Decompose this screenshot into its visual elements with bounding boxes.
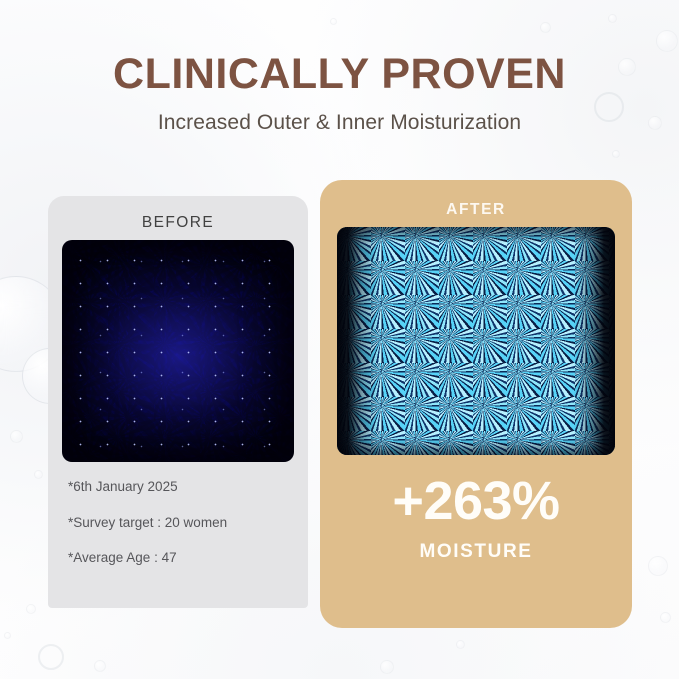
footnote-item: *6th January 2025	[68, 480, 296, 494]
before-micrograph-image	[62, 240, 294, 462]
after-panel: AFTER +263% MOISTURE	[320, 180, 632, 628]
before-micrograph-speckle-overlay	[62, 240, 294, 462]
moisture-stat-block: +263% MOISTURE	[320, 474, 632, 563]
footnote-item: *Average Age : 47	[68, 551, 296, 565]
moisture-increase-value: +263%	[320, 474, 632, 528]
footnote-item: *Survey target : 20 women	[68, 516, 296, 530]
before-panel: BEFORE *6th January 2025 *Survey target …	[48, 196, 308, 608]
after-micrograph-image	[337, 227, 615, 455]
before-after-comparison: BEFORE *6th January 2025 *Survey target …	[0, 0, 679, 679]
moisture-stat-label: MOISTURE	[320, 541, 632, 563]
after-panel-title: AFTER	[320, 180, 632, 219]
before-panel-title: BEFORE	[48, 196, 308, 232]
study-footnotes: *6th January 2025 *Survey target : 20 wo…	[68, 480, 296, 587]
after-micrograph-vignette-overlay	[337, 227, 615, 455]
